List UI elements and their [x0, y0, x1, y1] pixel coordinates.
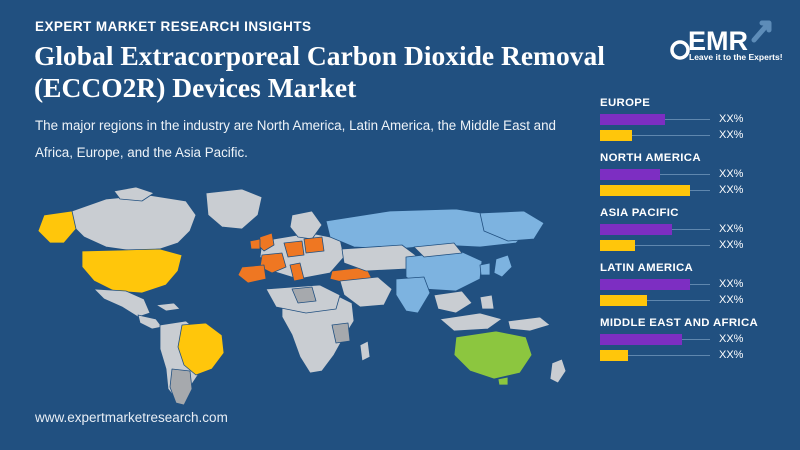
map-region-ireland	[250, 239, 260, 249]
map-region-germany	[284, 241, 304, 257]
map-region-tasmania	[498, 377, 508, 385]
bar-fill-purple	[600, 334, 682, 345]
bar-track	[600, 334, 710, 345]
map-region-new-guinea	[508, 317, 550, 331]
map-region-poland	[304, 237, 324, 253]
map-region-australia	[454, 331, 532, 379]
bar-fill-gold	[600, 350, 628, 361]
emr-logo: EMR Leave it to the Experts!	[662, 10, 782, 66]
bar-value-label: XX%	[719, 113, 743, 125]
bar-track	[600, 185, 710, 196]
bar-value-label: XX%	[719, 333, 743, 345]
bar-value-label: XX%	[719, 223, 743, 235]
page-title: Global Extracorporeal Carbon Dioxide Rem…	[34, 40, 674, 105]
eyebrow-label: EXPERT MARKET RESEARCH INSIGHTS	[35, 19, 311, 34]
world-map	[10, 185, 600, 425]
bar-track	[600, 240, 710, 251]
region-group-europe: EUROPE XX% XX%	[600, 97, 796, 142]
bar-fill-purple	[600, 169, 660, 180]
bar-fill-gold	[600, 185, 690, 196]
region-label-latin-america: LATIN AMERICA	[600, 262, 796, 274]
intro-paragraph: The major regions in the industry are No…	[35, 113, 595, 167]
region-group-latin-america: LATIN AMERICA XX% XX%	[600, 262, 796, 307]
logo-tagline: Leave it to the Experts!	[689, 52, 782, 62]
bar-value-label: XX%	[719, 294, 743, 306]
bar-row-europe-purple: XX%	[600, 112, 796, 126]
bar-value-label: XX%	[719, 168, 743, 180]
map-region-philippines	[480, 295, 494, 309]
map-region-indonesia	[440, 313, 502, 331]
region-group-middle-east-and-africa: MIDDLE EAST AND AFRICA XX% XX%	[600, 317, 796, 362]
region-group-asia-pacific: ASIA PACIFIC XX% XX%	[600, 207, 796, 252]
region-label-europe: EUROPE	[600, 97, 796, 109]
bar-row-north-america-gold: XX%	[600, 183, 796, 197]
map-region-canada	[72, 195, 196, 251]
map-region-united-states	[82, 249, 182, 293]
bar-fill-gold	[600, 240, 635, 251]
regional-share-chart: EUROPE XX% XX% NORTH AMERICA XX%	[600, 97, 796, 372]
bar-value-label: XX%	[719, 184, 743, 196]
map-region-spain-portugal	[238, 265, 266, 283]
bar-value-label: XX%	[719, 129, 743, 141]
bar-value-label: XX%	[719, 278, 743, 290]
bar-row-north-america-purple: XX%	[600, 167, 796, 181]
bar-row-asia-pacific-purple: XX%	[600, 222, 796, 236]
map-region-caribbean	[156, 303, 180, 311]
map-region-southeast-asia	[434, 291, 472, 313]
map-region-madagascar	[360, 341, 370, 361]
bar-row-middle-east-and-africa-purple: XX%	[600, 332, 796, 346]
emr-logo-graphic: EMR Leave it to the Experts!	[662, 10, 782, 66]
map-region-india	[396, 277, 430, 313]
map-region-korea	[480, 263, 490, 275]
bar-track	[600, 114, 710, 125]
bar-value-label: XX%	[719, 349, 743, 361]
bar-track	[600, 224, 710, 235]
bar-track	[600, 169, 710, 180]
map-region-new-zealand	[550, 359, 566, 383]
bar-row-latin-america-gold: XX%	[600, 293, 796, 307]
map-region-central-america	[138, 315, 162, 329]
bar-fill-gold	[600, 130, 632, 141]
region-group-north-america: NORTH AMERICA XX% XX%	[600, 152, 796, 197]
bar-row-europe-gold: XX%	[600, 128, 796, 142]
logo-circle-icon	[672, 42, 688, 58]
bar-track	[600, 130, 710, 141]
bar-fill-purple	[600, 114, 665, 125]
world-map-svg	[10, 185, 600, 425]
bar-fill-gold	[600, 295, 647, 306]
bar-track	[600, 279, 710, 290]
growth-arrow-icon	[754, 23, 769, 40]
map-region-alaska	[38, 211, 76, 243]
region-label-north-america: NORTH AMERICA	[600, 152, 796, 164]
bar-value-label: XX%	[719, 239, 743, 251]
map-region-argentina-chile	[170, 369, 192, 405]
bar-row-latin-america-purple: XX%	[600, 277, 796, 291]
bar-row-middle-east-and-africa-gold: XX%	[600, 348, 796, 362]
bar-track	[600, 295, 710, 306]
map-region-greenland	[206, 189, 262, 229]
region-label-asia-pacific: ASIA PACIFIC	[600, 207, 796, 219]
bar-row-asia-pacific-gold: XX%	[600, 238, 796, 252]
bar-fill-purple	[600, 224, 672, 235]
bar-fill-purple	[600, 279, 690, 290]
map-region-japan	[494, 255, 512, 277]
region-label-middle-east-and-africa: MIDDLE EAST AND AFRICA	[600, 317, 796, 329]
bar-track	[600, 350, 710, 361]
